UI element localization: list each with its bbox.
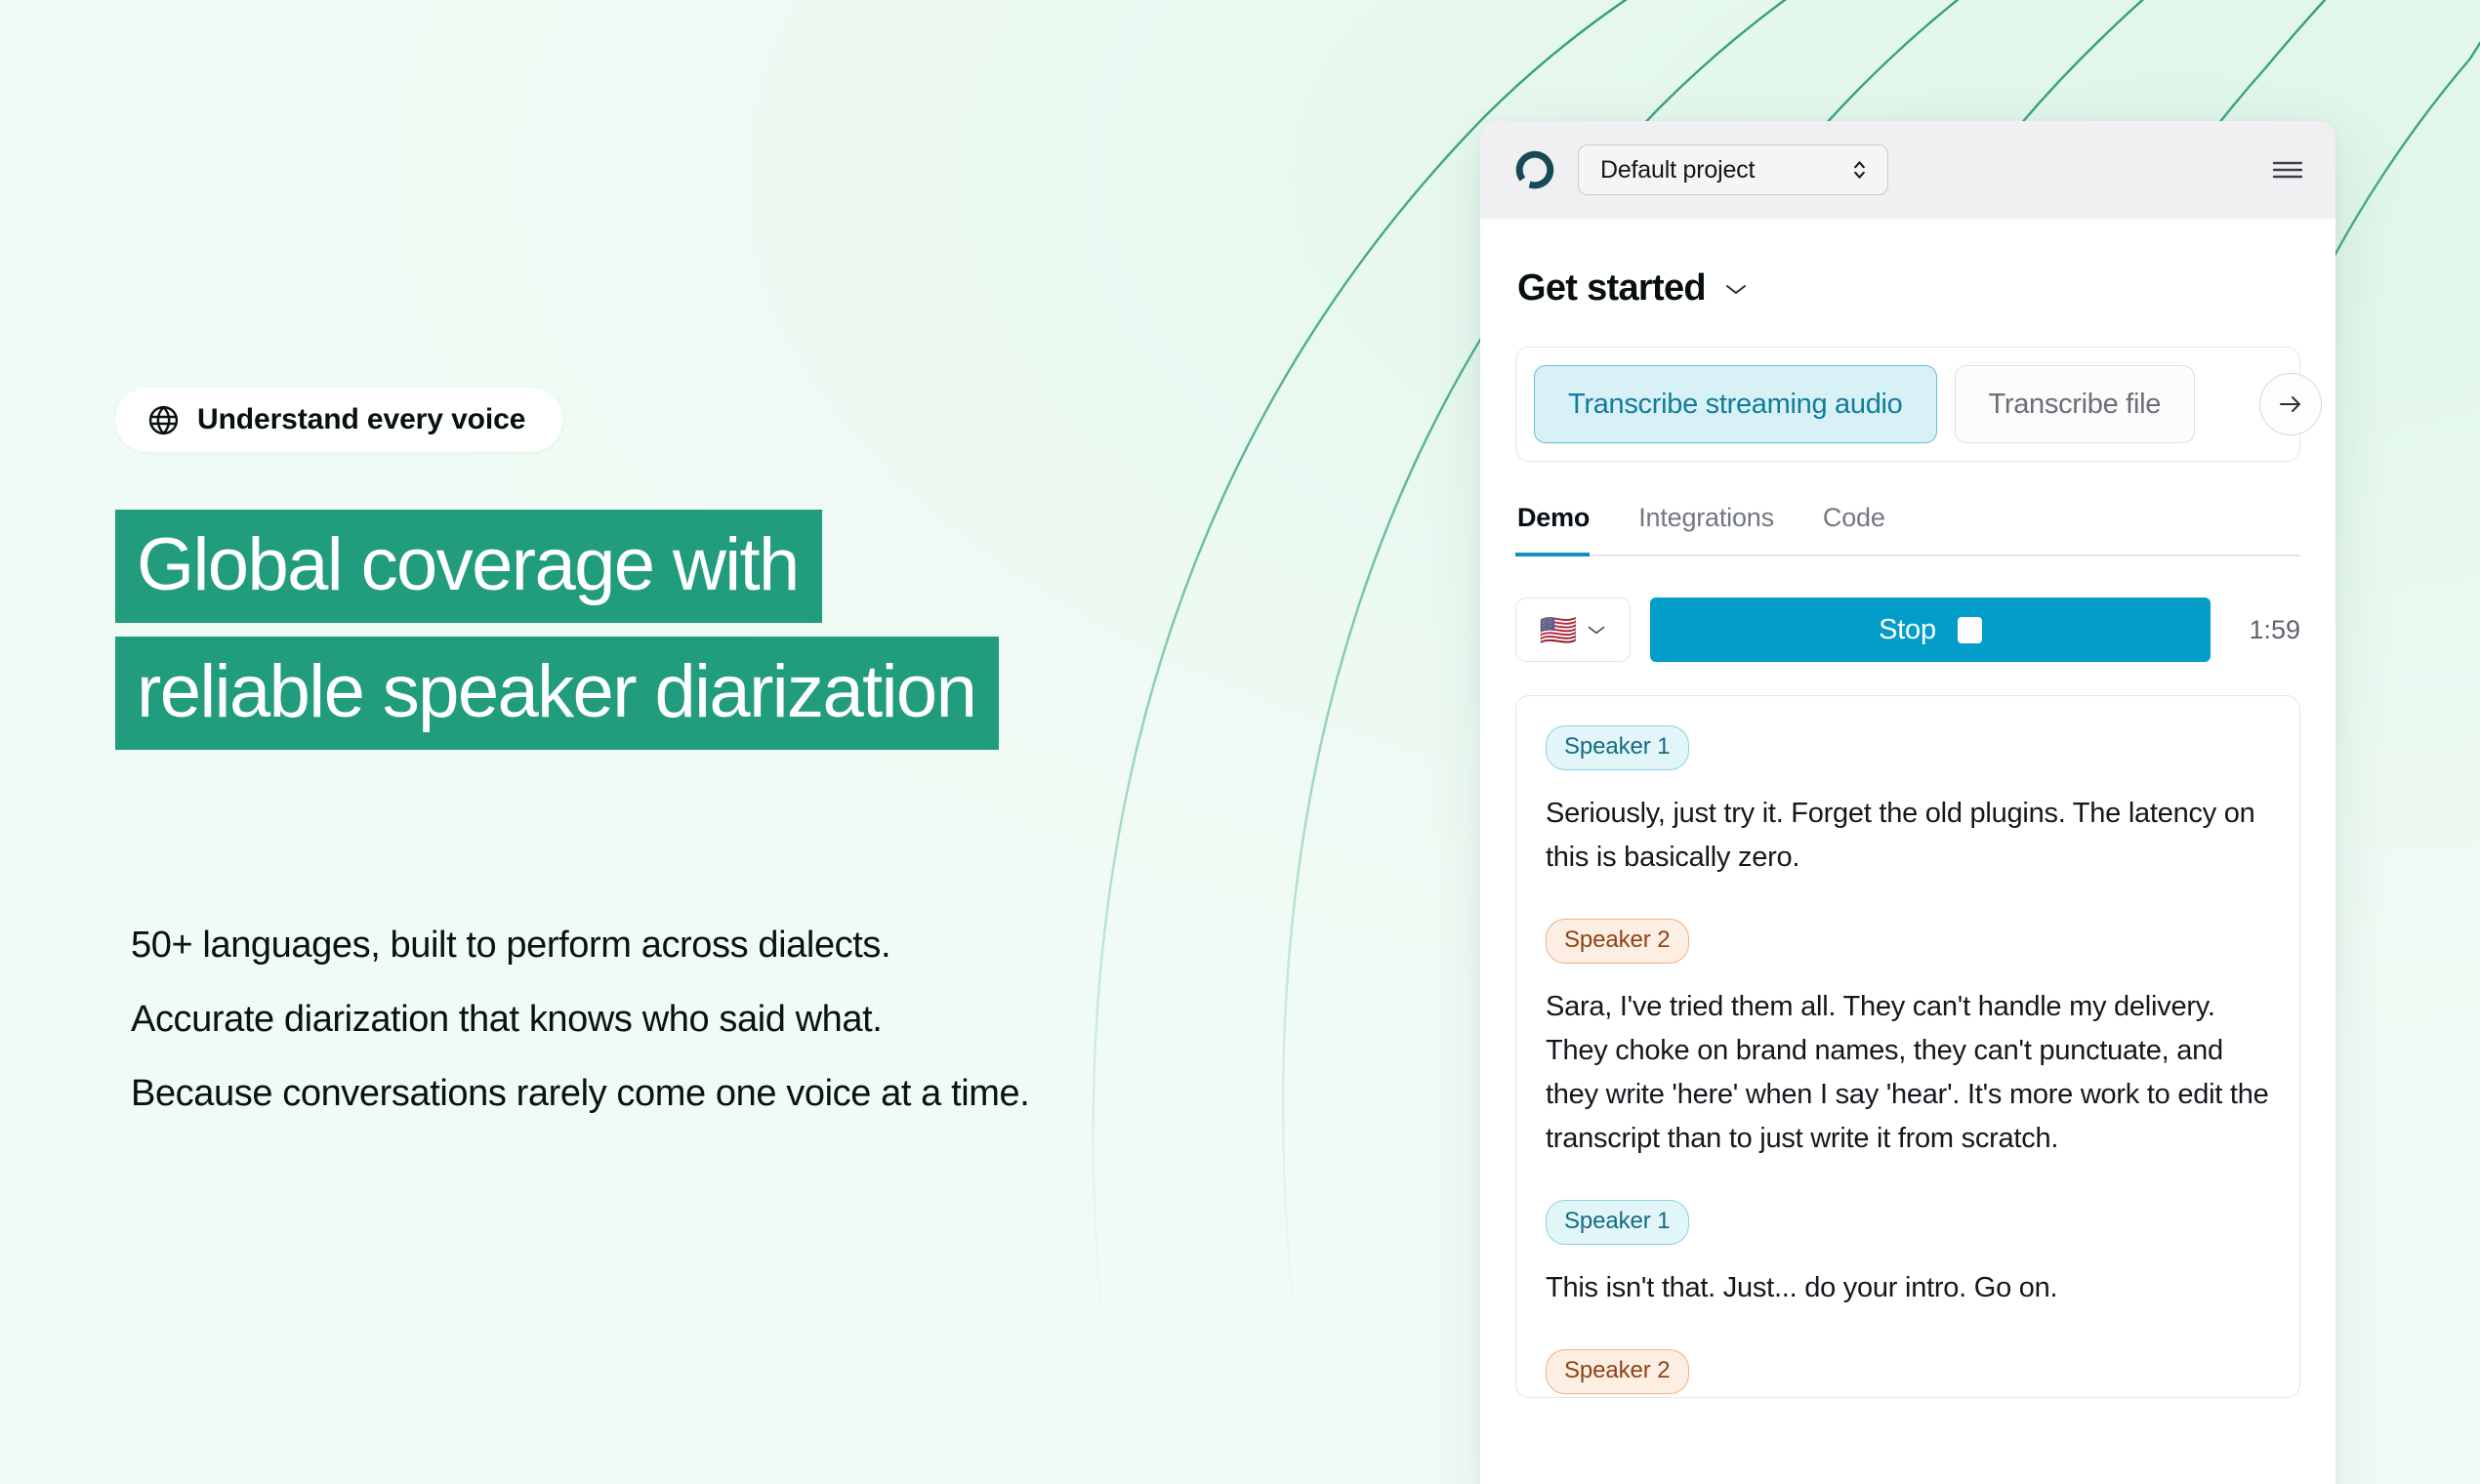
language-selector[interactable]: 🇺🇸 <box>1515 598 1631 662</box>
subcopy-line-3: Because conversations rarely come one vo… <box>131 1056 1439 1131</box>
chevron-down-icon[interactable] <box>1724 282 1748 296</box>
speaker-badge: Speaker 1 <box>1546 1200 1689 1245</box>
quick-card-label: Transcribe file <box>1989 389 2162 421</box>
app-body: Get started Transcribe streaming audio T… <box>1480 268 2335 1398</box>
quick-cards-carousel: Transcribe streaming audio Transcribe fi… <box>1515 347 2300 462</box>
globe-icon <box>146 403 181 437</box>
transcript-turn: Speaker 2 Sara, I've tried them all. The… <box>1546 919 2270 1161</box>
arrow-right-icon[interactable] <box>2259 373 2322 435</box>
demo-tabs: Demo Integrations Code <box>1515 503 2300 556</box>
stop-button[interactable]: Stop <box>1650 598 2211 662</box>
transcript-turn: Speaker 1 Seriously, just try it. Forget… <box>1546 725 2270 880</box>
transcript-turn: Speaker 1 This isn't that. Just... do yo… <box>1546 1200 2270 1310</box>
tab-label: Code <box>1823 503 1885 532</box>
transcript-panel[interactable]: Speaker 1 Seriously, just try it. Forget… <box>1515 695 2300 1398</box>
headline-line-2: reliable speaker diarization <box>115 637 999 750</box>
eyebrow-badge-label: Understand every voice <box>197 403 525 436</box>
stop-square-icon <box>1958 617 1982 643</box>
stop-button-label: Stop <box>1879 614 1936 646</box>
eyebrow-badge: Understand every voice <box>115 388 562 452</box>
get-started-header[interactable]: Get started <box>1517 268 2300 309</box>
transcript-text: This isn't that. Just... do your intro. … <box>1546 1266 2270 1310</box>
recorder-controls: 🇺🇸 Stop 1:59 <box>1515 598 2300 662</box>
hamburger-menu-icon[interactable] <box>2271 158 2304 182</box>
project-selector[interactable]: Default project <box>1578 144 1888 195</box>
speaker-badge: Speaker 2 <box>1546 1349 1689 1394</box>
tab-integrations[interactable]: Integrations <box>1615 503 1799 555</box>
tab-label: Integrations <box>1638 503 1774 532</box>
page-title: Global coverage with reliable speaker di… <box>115 510 1385 750</box>
transcript-text: Sara, I've tried them all. They can't ha… <box>1546 985 2270 1161</box>
subcopy-line-2: Accurate diarization that knows who said… <box>131 982 1439 1056</box>
speaker-badge: Speaker 1 <box>1546 725 1689 770</box>
transcript-turn: Speaker 2 <box>1546 1349 2270 1398</box>
tab-label: Demo <box>1517 503 1590 532</box>
quick-card-transcribe-streaming-audio[interactable]: Transcribe streaming audio <box>1534 365 1937 443</box>
speaker-badge: Speaker 2 <box>1546 919 1689 964</box>
tab-code[interactable]: Code <box>1799 503 1911 555</box>
us-flag-icon: 🇺🇸 <box>1540 615 1578 645</box>
quick-card-transcribe-file[interactable]: Transcribe file <box>1955 365 2196 443</box>
subcopy-line-1: 50+ languages, built to perform across d… <box>131 908 1439 982</box>
get-started-title: Get started <box>1517 268 1706 309</box>
app-topbar: Default project <box>1480 121 2335 219</box>
chevron-down-icon <box>1587 624 1606 636</box>
hero-section: Understand every voice Global coverage w… <box>0 0 1465 1484</box>
deepgram-logo-icon[interactable] <box>1513 148 1556 191</box>
hero-subcopy: 50+ languages, built to perform across d… <box>131 908 1439 1131</box>
tab-demo[interactable]: Demo <box>1515 503 1615 555</box>
app-panel: Default project Get started Transcribe <box>1480 121 2335 1484</box>
headline-line-1: Global coverage with <box>115 510 822 623</box>
quick-cards-strip: Transcribe streaming audio Transcribe fi… <box>1515 347 2300 462</box>
quick-card-label: Transcribe streaming audio <box>1568 389 1903 421</box>
up-down-chevron-icon <box>1851 157 1868 183</box>
transcript-text: Seriously, just try it. Forget the old p… <box>1546 792 2270 880</box>
project-selector-value: Default project <box>1600 156 1834 185</box>
elapsed-time: 1:59 <box>2230 615 2300 645</box>
